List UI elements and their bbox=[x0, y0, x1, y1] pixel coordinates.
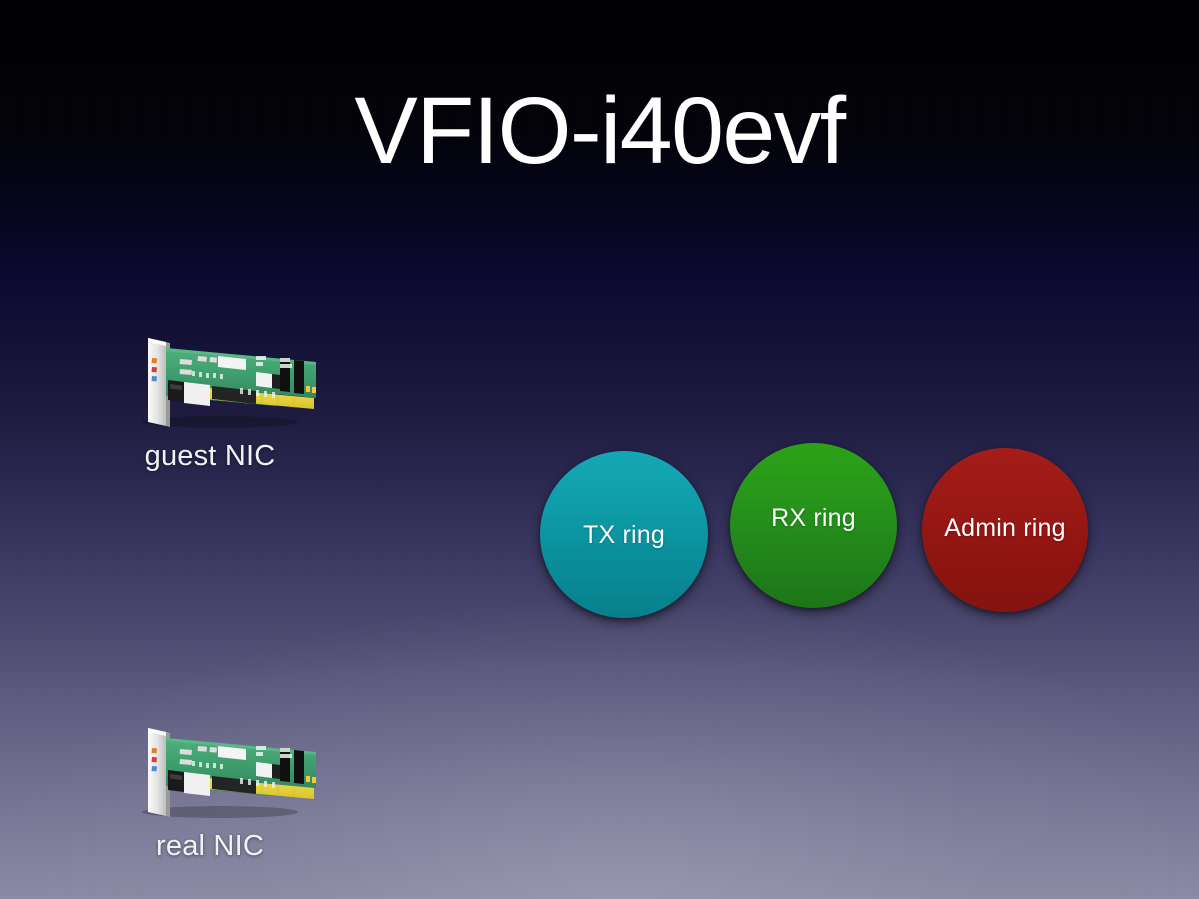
real-nic-label: real NIC bbox=[80, 830, 340, 863]
real-nic-group: real NIC bbox=[80, 724, 340, 863]
guest-nic-group: guest NIC bbox=[80, 334, 340, 473]
admin-ring-circle[interactable]: Admin ring bbox=[922, 448, 1088, 612]
rx-ring-label: RX ring bbox=[771, 504, 856, 533]
page-title: VFIO-i40evf bbox=[0, 84, 1199, 179]
network-interface-card-icon bbox=[80, 334, 340, 430]
guest-nic-label: guest NIC bbox=[80, 440, 340, 473]
admin-ring-label: Admin ring bbox=[944, 514, 1066, 543]
slide-canvas: VFIO-i40evf bbox=[0, 0, 1199, 899]
tx-ring-circle[interactable]: TX ring bbox=[540, 451, 708, 618]
network-interface-card-icon bbox=[80, 724, 340, 820]
rx-ring-circle[interactable]: RX ring bbox=[730, 443, 897, 608]
tx-ring-label: TX ring bbox=[583, 521, 665, 550]
